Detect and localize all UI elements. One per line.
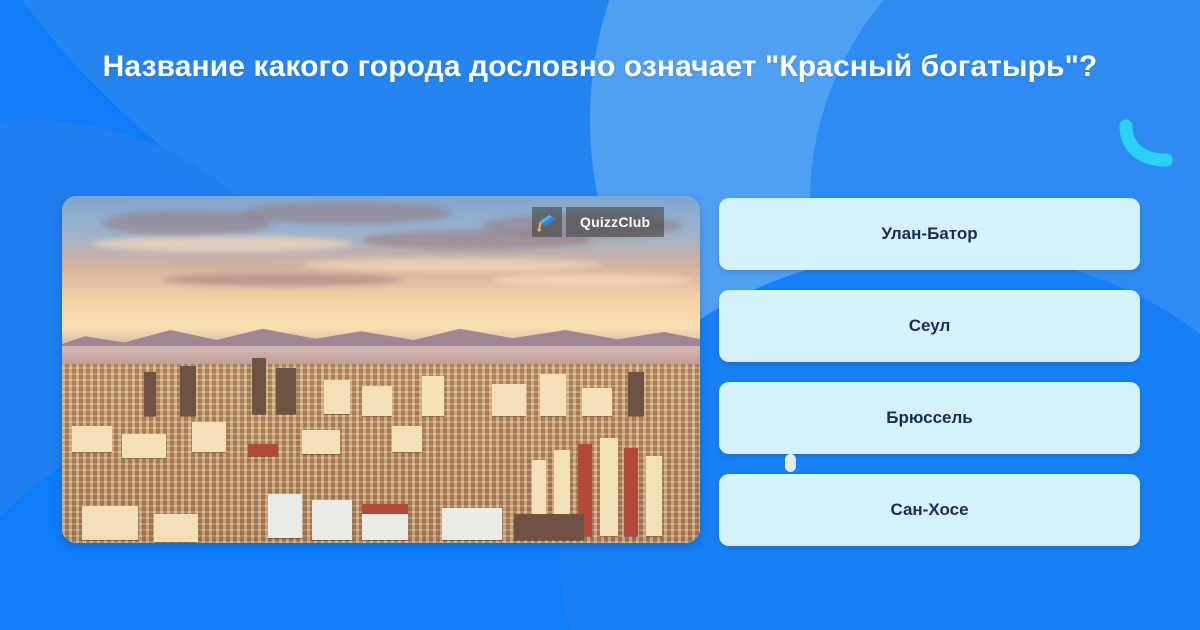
building — [154, 514, 198, 542]
building — [192, 422, 226, 452]
building — [540, 374, 566, 416]
building — [276, 368, 296, 414]
building — [600, 438, 618, 536]
answer-label: Брюссель — [886, 408, 973, 428]
building — [82, 506, 138, 540]
building — [268, 494, 302, 538]
cloud-shape — [492, 274, 692, 286]
question-image: QuizzClub — [62, 196, 700, 543]
cityscape-photo: QuizzClub — [62, 196, 700, 543]
answer-label: Сан-Хосе — [890, 500, 968, 520]
graduation-cap-icon — [532, 207, 562, 237]
quiz-card: Название какого города дословно означает… — [0, 0, 1200, 630]
building — [624, 448, 638, 536]
answer-option-1[interactable]: Улан-Батор — [719, 198, 1140, 270]
building — [180, 366, 196, 416]
building — [324, 380, 350, 414]
page-title: Название какого города дословно означает… — [90, 46, 1110, 87]
building — [248, 444, 278, 456]
building-cluster — [62, 364, 700, 543]
answer-label: Улан-Батор — [881, 224, 977, 244]
building — [392, 426, 422, 452]
building — [72, 426, 112, 452]
building — [646, 456, 662, 536]
answer-label: Сеул — [909, 316, 951, 336]
building — [312, 500, 352, 540]
cloud-shape — [162, 274, 402, 286]
watermark-badge: QuizzClub — [532, 207, 664, 237]
building — [302, 430, 340, 454]
building — [122, 434, 166, 458]
answer-option-2[interactable]: Сеул — [719, 290, 1140, 362]
city-buildings — [62, 364, 700, 543]
building — [422, 376, 444, 416]
watermark-brand: QuizzClub — [566, 207, 664, 237]
cyan-swoosh-icon — [1118, 122, 1176, 168]
cloud-shape — [302, 258, 602, 272]
decorative-pill — [785, 454, 796, 472]
building — [362, 514, 408, 540]
building — [582, 388, 612, 416]
building — [252, 358, 266, 414]
building — [628, 372, 644, 416]
building — [144, 372, 156, 416]
answer-option-3[interactable]: Брюссель — [719, 382, 1140, 454]
building — [362, 386, 392, 416]
building — [492, 384, 526, 416]
cloud-shape — [92, 236, 352, 252]
building — [442, 508, 502, 540]
building — [362, 504, 408, 514]
answer-list: Улан-Батор Сеул Брюссель Сан-Хосе — [719, 198, 1140, 546]
cloud-shape — [242, 202, 452, 224]
answer-option-4[interactable]: Сан-Хосе — [719, 474, 1140, 546]
building — [514, 514, 584, 540]
